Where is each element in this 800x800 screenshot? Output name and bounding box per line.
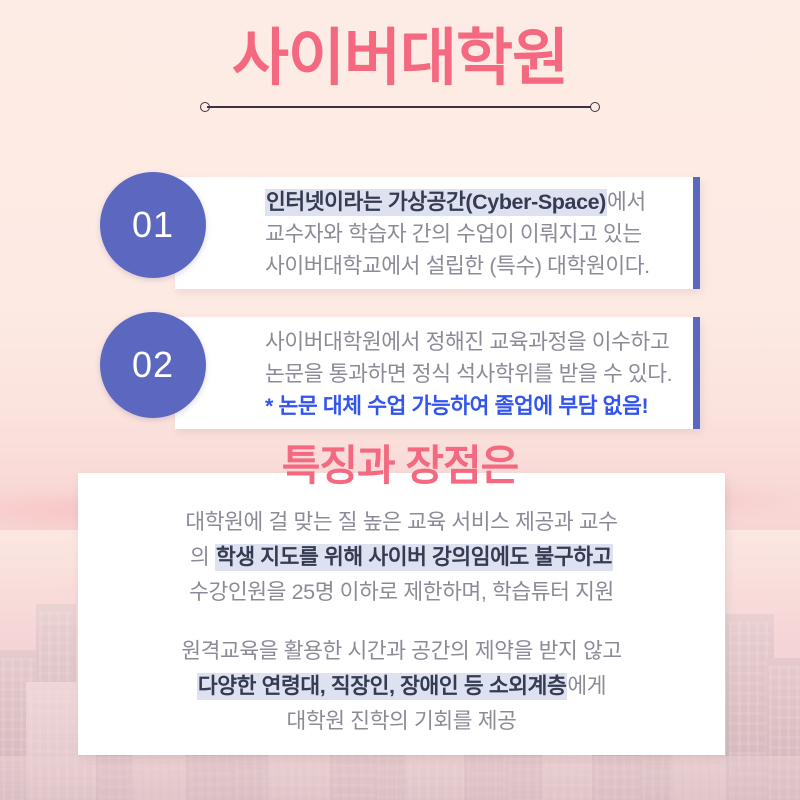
feature-line: 다양한 연령대, 직장인, 장애인 등 소외계층에게 bbox=[197, 673, 606, 700]
numbered-item-note-line: * 논문 대체 수업 가능하여 졸업에 부담 없음! bbox=[265, 390, 675, 422]
line-pre: 수강인원을 25명 이하로 제한하며, 학습튜터 지원 bbox=[189, 580, 614, 604]
numbered-item-text: 인터넷이라는 가상공간(Cyber-Space)에서 교수자와 학습자 간의 수… bbox=[265, 186, 675, 282]
numbered-item-line: 교수자와 학습자 간의 수업이 이뤄지고 있는 bbox=[265, 218, 675, 250]
highlighted-phrase: 다양한 연령대, 직장인, 장애인 등 소외계층 bbox=[197, 673, 567, 700]
line-rest: 사이버대학원에서 정해진 교육과정을 이수하고 bbox=[265, 330, 669, 354]
feature-line: 수강인원을 25명 이하로 제한하며, 학습튜터 지원 bbox=[189, 580, 614, 604]
feature-paragraph: 원격교육을 활용한 시간과 공간의 제약을 받지 않고 다양한 연령대, 직장인… bbox=[78, 634, 725, 739]
highlighted-phrase: 인터넷이라는 가상공간(Cyber-Space) bbox=[265, 189, 607, 216]
line-pre: 대학원에 걸 맞는 질 높은 교육 서비스 제공과 교수 bbox=[185, 510, 617, 534]
poster-canvas: 사이버대학원 인터넷이라는 가상공간(Cyber-Space)에서 교수자와 학… bbox=[0, 0, 800, 800]
line-rest: 논문을 통과하면 정식 석사학위를 받을 수 있다. bbox=[265, 362, 672, 386]
numbered-item-01: 인터넷이라는 가상공간(Cyber-Space)에서 교수자와 학습자 간의 수… bbox=[100, 172, 700, 292]
numbered-item-line: 인터넷이라는 가상공간(Cyber-Space)에서 bbox=[265, 186, 675, 218]
numbered-item-line: 사이버대학원에서 정해진 교육과정을 이수하고 bbox=[265, 326, 675, 358]
item-number-badge-01: 01 bbox=[100, 172, 206, 278]
numbered-item-02: 사이버대학원에서 정해진 교육과정을 이수하고 논문을 통과하면 정식 석사학위… bbox=[100, 312, 700, 432]
line-post: 에게 bbox=[567, 674, 606, 698]
page-title: 사이버대학원 bbox=[0, 26, 800, 93]
feature-body: 대학원에 걸 맞는 질 높은 교육 서비스 제공과 교수 의 학생 지도를 위해… bbox=[78, 505, 725, 739]
numbered-item-card: 인터넷이라는 가상공간(Cyber-Space)에서 교수자와 학습자 간의 수… bbox=[175, 177, 700, 289]
numbered-item-text: 사이버대학원에서 정해진 교육과정을 이수하고 논문을 통과하면 정식 석사학위… bbox=[265, 326, 675, 422]
line-pre: 원격교육을 활용한 시간과 공간의 제약을 받지 않고 bbox=[181, 639, 621, 663]
numbered-item-card: 사이버대학원에서 정해진 교육과정을 이수하고 논문을 통과하면 정식 석사학위… bbox=[175, 317, 700, 429]
feature-line: 원격교육을 활용한 시간과 공간의 제약을 받지 않고 bbox=[181, 639, 621, 663]
item-number-badge-02: 02 bbox=[100, 312, 206, 418]
feature-line: 대학원 진학의 기회를 제공 bbox=[287, 709, 517, 733]
feature-paragraph: 대학원에 걸 맞는 질 높은 교육 서비스 제공과 교수 의 학생 지도를 위해… bbox=[78, 505, 725, 610]
numbered-item-line: 사이버대학교에서 설립한 (특수) 대학원이다. bbox=[265, 250, 675, 282]
divider-right-dot-icon bbox=[590, 102, 600, 112]
line-rest: 교수자와 학습자 간의 수업이 이뤄지고 있는 bbox=[265, 222, 642, 246]
numbered-item-line: 논문을 통과하면 정식 석사학위를 받을 수 있다. bbox=[265, 358, 675, 390]
line-rest: 에서 bbox=[607, 190, 646, 214]
feature-line: 대학원에 걸 맞는 질 높은 교육 서비스 제공과 교수 bbox=[185, 510, 617, 534]
poster-header: 사이버대학원 bbox=[0, 26, 800, 93]
line-pre: 대학원 진학의 기회를 제공 bbox=[287, 709, 517, 733]
line-rest: 사이버대학교에서 설립한 (특수) 대학원이다. bbox=[265, 254, 650, 278]
title-divider bbox=[200, 100, 600, 114]
line-pre: 의 bbox=[190, 545, 215, 569]
highlighted-phrase: 학생 지도를 위해 사이버 강의임에도 불구하고 bbox=[215, 544, 613, 571]
divider-line bbox=[207, 106, 593, 108]
feature-title: 특징과 장점은 bbox=[0, 443, 800, 489]
feature-line: 의 학생 지도를 위해 사이버 강의임에도 불구하고 bbox=[190, 544, 613, 571]
